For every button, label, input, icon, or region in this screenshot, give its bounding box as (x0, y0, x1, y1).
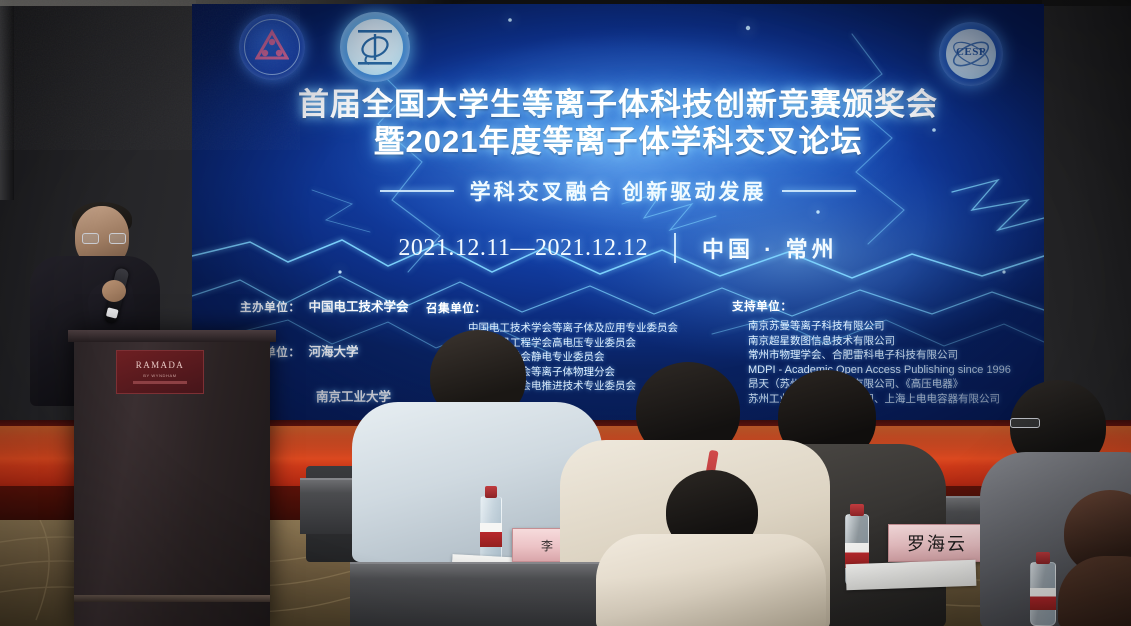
lectern-top (68, 330, 276, 342)
water-bottle (480, 486, 502, 564)
name-card-right: 罗海云 (888, 524, 986, 562)
lectern: RAMADA BY WYNDHAM (74, 330, 270, 626)
venue-brand-subtext: BY WYNDHAM (143, 373, 176, 378)
led-display-screen: CESP 首届全国大学生等离子体科技创新竞赛颁奖会 暨2021年度等离子体学科交… (192, 4, 1044, 422)
torso (1058, 556, 1131, 626)
name-card-left-text: 李 (541, 537, 555, 554)
presenter-hand (102, 280, 126, 302)
lectern-base-trim (74, 595, 270, 602)
plaque-bar (133, 381, 187, 384)
screen-vignette (192, 4, 1044, 422)
torso (596, 534, 826, 626)
wall-edge (0, 0, 14, 200)
presenter-glasses-icon (82, 233, 126, 244)
glasses-icon (1010, 418, 1040, 428)
right-wall (1042, 0, 1131, 420)
audience-member-5 (596, 470, 826, 626)
water-bottle (1030, 552, 1056, 626)
name-card-right-text: 罗海云 (907, 530, 967, 556)
audience-member-6 (1058, 490, 1131, 626)
papers (846, 560, 977, 591)
lectern-brand-plaque: RAMADA BY WYNDHAM (116, 350, 204, 394)
conference-photo-scene: CESP 首届全国大学生等离子体科技创新竞赛颁奖会 暨2021年度等离子体学科交… (0, 0, 1131, 626)
venue-brand-text: RAMADA (136, 360, 184, 370)
